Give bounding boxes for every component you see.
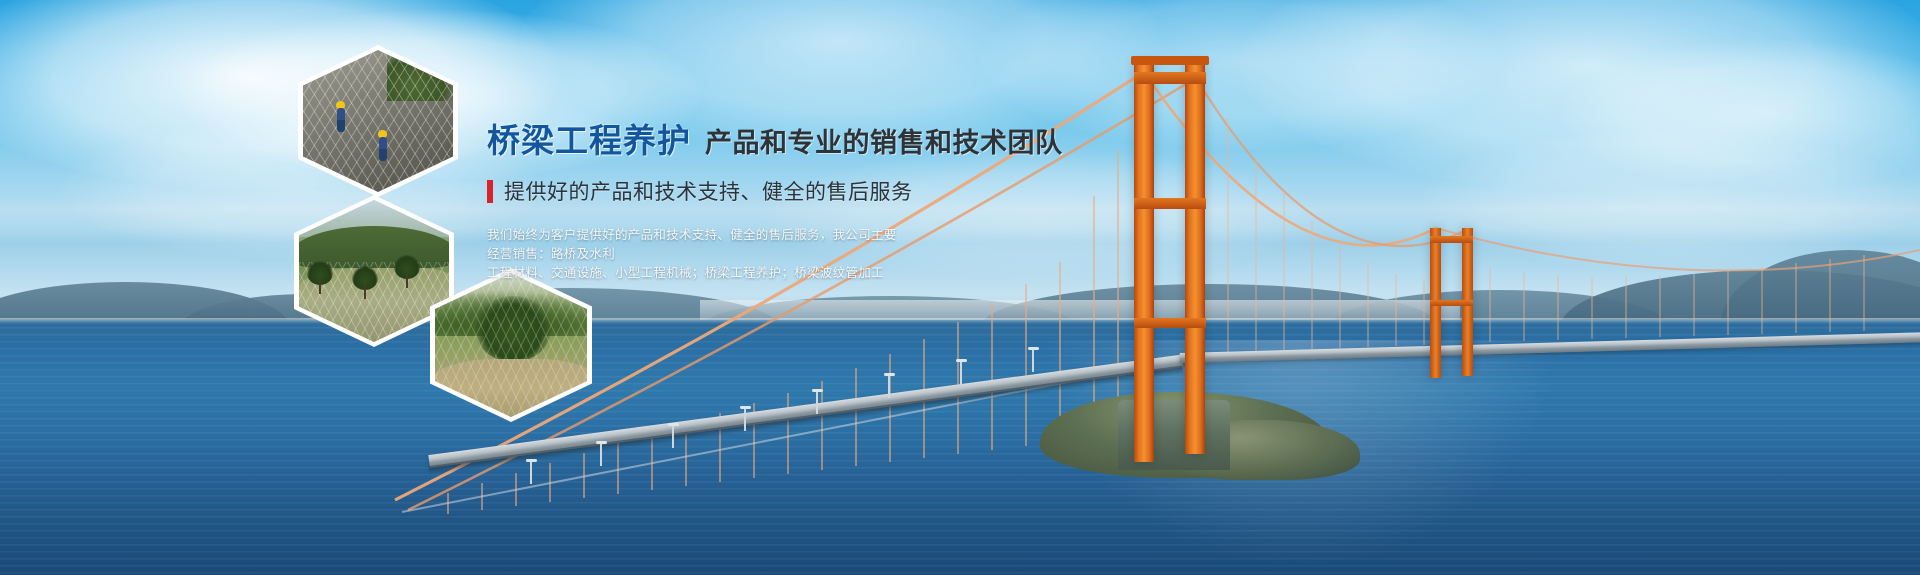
shore-foam-line: [0, 318, 1920, 324]
body-line-2: 工程材料、交通设施、小型工程机械；桥梁工程养护；桥梁波纹管加工: [487, 264, 907, 283]
cloud-shape: [1240, 0, 1920, 190]
accent-bar: [487, 180, 493, 203]
worker-legs: [379, 149, 387, 161]
hex-photo-frame: [299, 200, 449, 342]
sea-water: [0, 320, 1920, 575]
hex-thumbnail-rock-slope-netting-workers[interactable]: [298, 45, 458, 197]
worker-legs: [337, 120, 345, 132]
hex-thumbnail-green-slope-netting[interactable]: [430, 268, 592, 422]
hex-photo-frame: [435, 273, 587, 417]
photo-hillside-slope: [299, 200, 449, 342]
photo-rock-slope: [303, 50, 453, 192]
cloud-shape: [1560, 40, 1920, 190]
banner-subtitle-row: 提供好的产品和技术支持、健全的售后服务: [487, 176, 1107, 206]
body-line-1: 我们始终为客户提供好的产品和技术支持、健全的售后服务，我公司主要经营销售：路桥及…: [487, 226, 907, 264]
hex-photo-frame: [303, 50, 453, 192]
protective-mesh-overlay: [303, 50, 453, 192]
banner-copy-block: 桥梁工程养护 产品和专业的销售和技术团队 提供好的产品和技术支持、健全的售后服务…: [487, 124, 1107, 283]
headline-primary: 桥梁工程养护: [487, 124, 691, 157]
hero-banner: 桥梁工程养护 产品和专业的销售和技术团队 提供好的产品和技术支持、健全的售后服务…: [0, 0, 1920, 575]
water-glint: [1040, 340, 1560, 570]
banner-body-copy: 我们始终为客户提供好的产品和技术支持、健全的售后服务，我公司主要经营销售：路桥及…: [487, 226, 907, 283]
photo-green-slope: [435, 273, 587, 417]
headline-secondary: 产品和专业的销售和技术团队: [705, 130, 1063, 157]
protective-mesh-overlay: [435, 273, 587, 417]
banner-headline: 桥梁工程养护 产品和专业的销售和技术团队: [487, 124, 1107, 157]
banner-subtitle: 提供好的产品和技术支持、健全的售后服务: [504, 176, 913, 206]
